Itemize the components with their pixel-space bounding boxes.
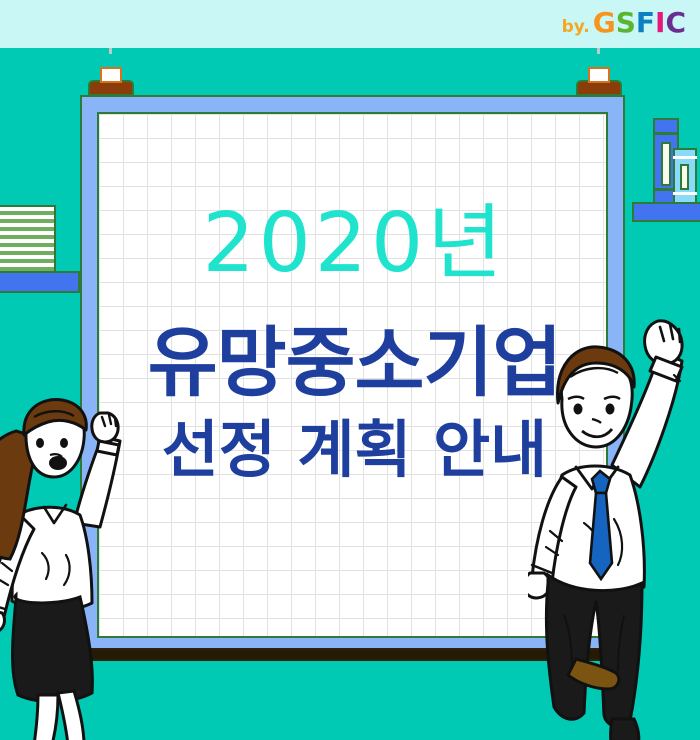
character-man bbox=[528, 315, 700, 740]
book-spine-label bbox=[661, 142, 671, 186]
hanger-left-icon bbox=[88, 50, 134, 100]
brand-prefix: by. bbox=[562, 17, 590, 37]
cyan-book bbox=[673, 148, 697, 204]
top-banner: by. G S F I C bbox=[0, 0, 700, 48]
brand-letter-g: G bbox=[593, 9, 616, 37]
right-shelf bbox=[632, 202, 700, 222]
hanger-right-icon bbox=[576, 50, 622, 100]
paper-stack bbox=[0, 205, 56, 273]
hanger-cap bbox=[100, 67, 122, 83]
brand-letter-i: I bbox=[655, 9, 665, 37]
book-spine-label bbox=[680, 164, 689, 190]
hanger-cap bbox=[588, 67, 610, 83]
character-woman bbox=[0, 395, 147, 740]
brand-letter-f: F bbox=[636, 9, 655, 37]
brand-logo: by. G S F I C bbox=[562, 9, 686, 37]
brand-letter-s: S bbox=[616, 9, 636, 37]
brand-letter-c: C bbox=[665, 9, 686, 37]
poster-canvas: 2020년 유망중소기업 선정 계획 안내 bbox=[0, 0, 700, 740]
left-shelf bbox=[0, 271, 80, 293]
